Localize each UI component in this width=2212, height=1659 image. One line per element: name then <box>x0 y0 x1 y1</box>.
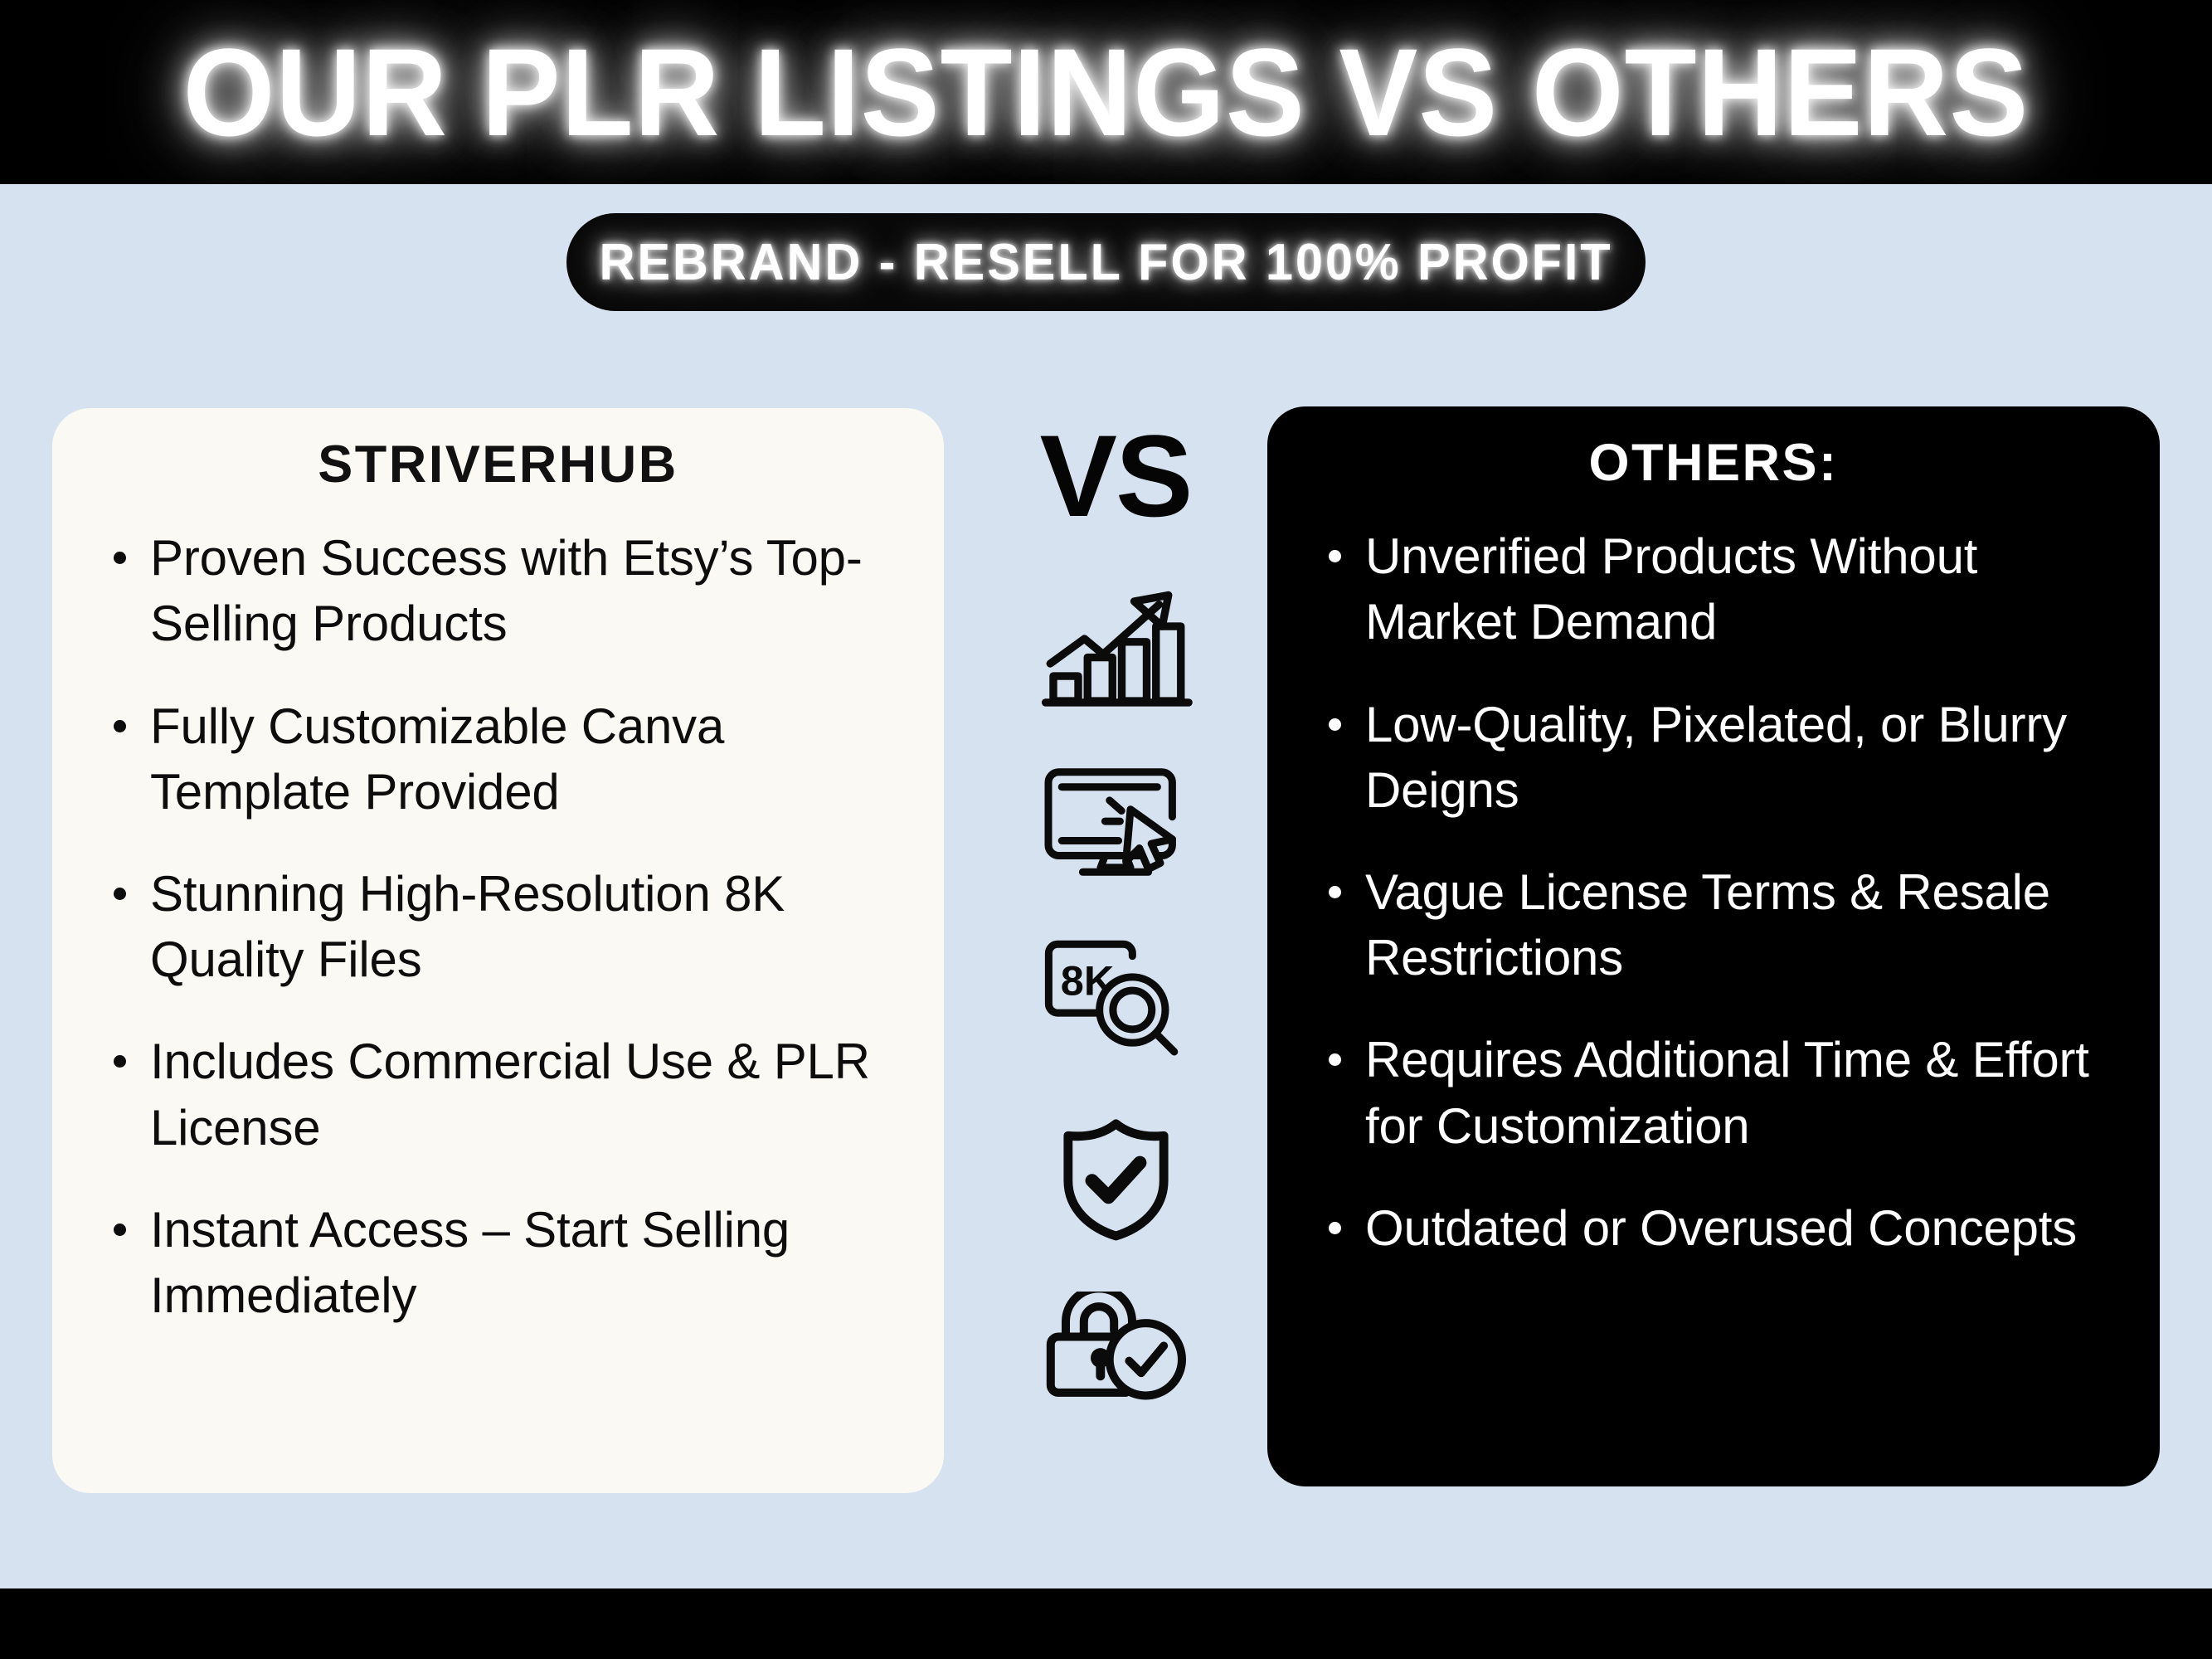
center-icon-stack: 8K <box>1037 589 1194 1424</box>
striverhub-card: STRIVERHUB Proven Success with Etsy’s To… <box>52 408 944 1493</box>
8k-magnifier-icon: 8K <box>1039 938 1193 1067</box>
list-item: Requires Additional Time & Effort for Cu… <box>1305 1027 2122 1158</box>
others-card-heading: OTHERS: <box>1305 435 2122 492</box>
list-item: Vague License Terms & Resale Restriction… <box>1305 859 2122 990</box>
list-item: Includes Commercial Use & PLR License <box>90 1029 906 1160</box>
lock-check-icon <box>1041 1292 1190 1424</box>
striverhub-bullet-list: Proven Success with Etsy’s Top-Selling P… <box>90 525 906 1460</box>
comparison-divider-column: VS 8K <box>962 406 1269 1493</box>
list-item: Low-Quality, Pixelated, or Blurry Deigns <box>1305 692 2122 823</box>
shield-check-icon <box>1052 1115 1180 1243</box>
header-bar: OUR PLR LISTINGS VS OTHERS <box>0 0 2212 184</box>
subtitle-pill: REBRAND - RESELL FOR 100% PROFIT <box>566 213 1646 311</box>
list-item: Fully Customizable Canva Template Provid… <box>90 693 906 825</box>
list-item: Stunning High-Resolution 8K Quality File… <box>90 861 906 992</box>
list-item: Outdated or Overused Concepts <box>1305 1195 2122 1261</box>
subtitle-text: REBRAND - RESELL FOR 100% PROFIT <box>599 233 1612 292</box>
page-title: OUR PLR LISTINGS VS OTHERS <box>183 30 2030 154</box>
striverhub-card-heading: STRIVERHUB <box>90 436 906 494</box>
growth-chart-icon <box>1037 589 1194 713</box>
others-card: OTHERS: Unverified Products Without Mark… <box>1267 406 2160 1486</box>
monitor-cursor-icon <box>1041 761 1190 890</box>
others-bullet-list: Unverified Products Without Market Deman… <box>1305 523 2122 1453</box>
list-item: Proven Success with Etsy’s Top-Selling P… <box>90 525 906 656</box>
list-item: Instant Access – Start Selling Immediate… <box>90 1197 906 1328</box>
vs-label: VS <box>1040 418 1192 534</box>
footer-bar <box>0 1588 2212 1659</box>
list-item: Unverified Products Without Market Deman… <box>1305 523 2122 654</box>
